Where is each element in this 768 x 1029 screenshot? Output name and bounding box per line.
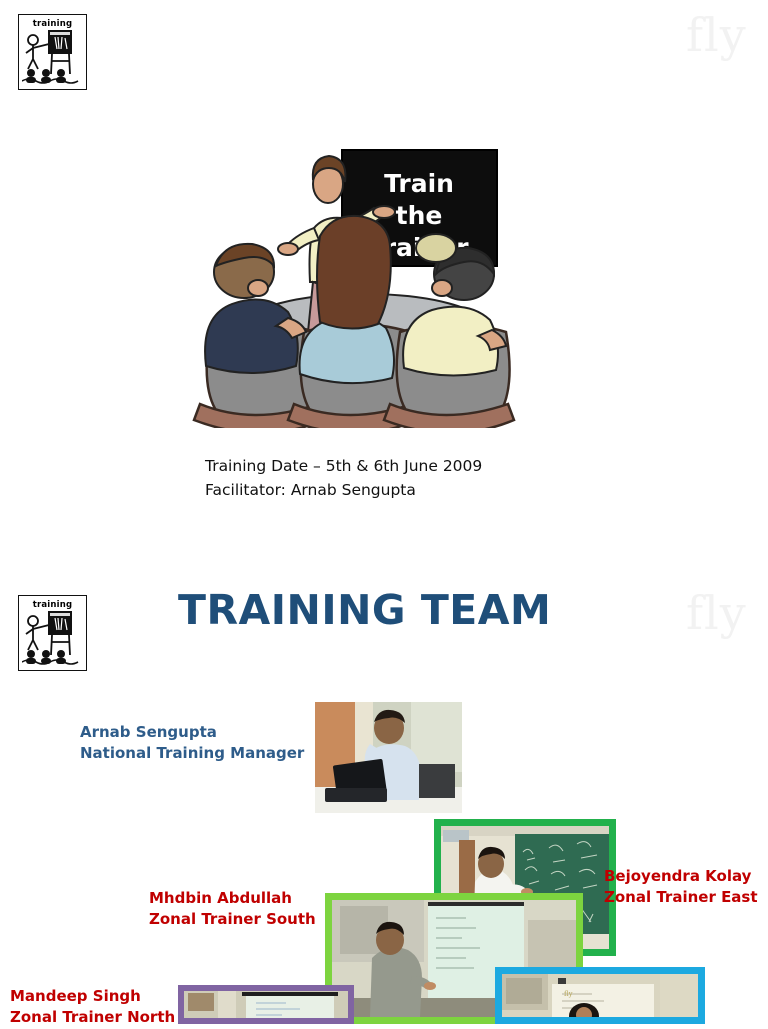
svg-text:the: the xyxy=(396,201,443,230)
train-the-trainer-clipart: Train the Trainer xyxy=(192,136,536,428)
member-name: Arnab Sengupta xyxy=(80,722,304,743)
member-label-mandeep: Mandeep Singh Zonal Trainer North xyxy=(10,986,175,1029)
member-photo-presenter: fly xyxy=(495,967,705,1024)
member-role: Zonal Trainer North xyxy=(10,1007,175,1028)
member-name: Mhdbin Abdullah xyxy=(149,888,316,909)
caption-training-date: Training Date – 5th & 6th June 2009 xyxy=(205,457,482,475)
svg-text:fly: fly xyxy=(564,990,573,998)
fly-watermark: fly xyxy=(686,590,747,636)
member-name: Mandeep Singh xyxy=(10,986,175,1007)
slide-train-the-trainer: training fly Train the Trainer xyxy=(0,0,768,512)
member-role: National Training Manager xyxy=(80,743,304,764)
member-label-mhdbin: Mhdbin Abdullah Zonal Trainer South xyxy=(149,888,316,931)
page-title: TRAINING TEAM xyxy=(178,586,551,634)
training-logo: training xyxy=(18,595,87,671)
member-label-arnab: Arnab Sengupta National Training Manager xyxy=(80,722,304,765)
member-role: Zonal Trainer East xyxy=(604,887,758,908)
member-label-bejoyendra: Bejoyendra Kolay Zonal Trainer East xyxy=(604,866,758,909)
svg-text:Train: Train xyxy=(384,169,454,198)
member-photo-arnab xyxy=(315,702,462,813)
flipchart-icon xyxy=(22,28,82,85)
training-logo: training xyxy=(18,14,87,90)
fly-watermark: fly xyxy=(686,12,747,58)
member-name: Bejoyendra Kolay xyxy=(604,866,758,887)
caption-facilitator: Facilitator: Arnab Sengupta xyxy=(205,481,416,499)
flipchart-icon xyxy=(22,609,82,666)
member-role: Zonal Trainer South xyxy=(149,909,316,930)
member-photo-mandeep xyxy=(178,985,354,1024)
